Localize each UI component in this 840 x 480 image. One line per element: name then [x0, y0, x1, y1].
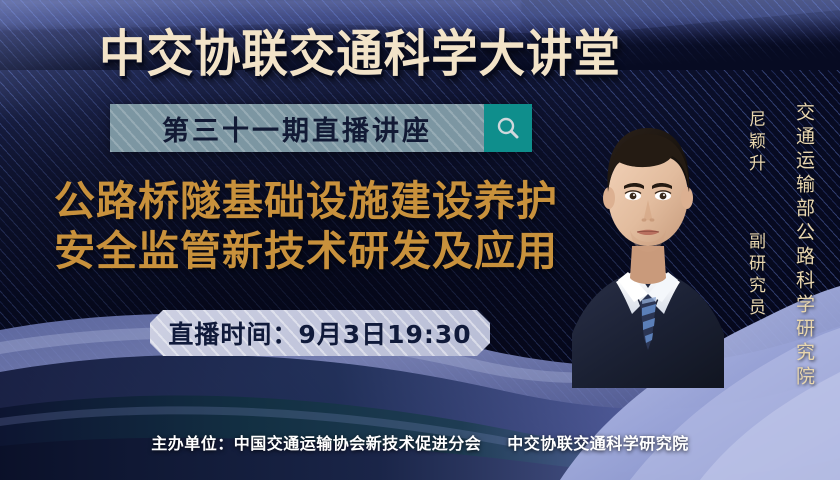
episode-label: 第三十一期直播讲座 — [162, 109, 432, 148]
episode-banner: 第三十一期直播讲座 — [110, 104, 532, 152]
footer-organizer-2: 中交协联交通科学研究院 — [507, 434, 689, 453]
episode-banner-body: 第三十一期直播讲座 — [110, 104, 484, 152]
search-icon — [484, 104, 532, 152]
footer-prefix: 主办单位： — [151, 434, 234, 453]
speaker-name: 尼颖升 — [743, 110, 768, 176]
page-title: 中交协联交通科学大讲堂 — [25, 14, 695, 86]
speaker-organization: 交通运输部公路科学研究院 — [791, 102, 818, 390]
footer-organizer-1: 中国交通运输协会新技术促进分会 — [234, 434, 482, 453]
topic-title-line-1: 公路桥隧基础设施建设养护 — [26, 176, 586, 226]
speaker-role: 副研究员 — [743, 232, 768, 320]
broadcast-time-text: 直播时间：9月3日19:30 — [168, 315, 471, 351]
topic-title: 公路桥隧基础设施建设养护 安全监管新技术研发及应用 — [26, 176, 586, 276]
livestream-promo-poster: 中交协联交通科学大讲堂 第三十一期直播讲座 公路桥隧基础设施建设养护 安全监管新… — [0, 0, 840, 480]
speaker-portrait — [572, 88, 724, 388]
footer-organizers: 主办单位：中国交通运输协会新技术促进分会中交协联交通科学研究院 — [0, 430, 840, 454]
topic-title-line-2: 安全监管新技术研发及应用 — [26, 226, 586, 276]
broadcast-time-badge: 直播时间：9月3日19:30 — [150, 310, 490, 356]
